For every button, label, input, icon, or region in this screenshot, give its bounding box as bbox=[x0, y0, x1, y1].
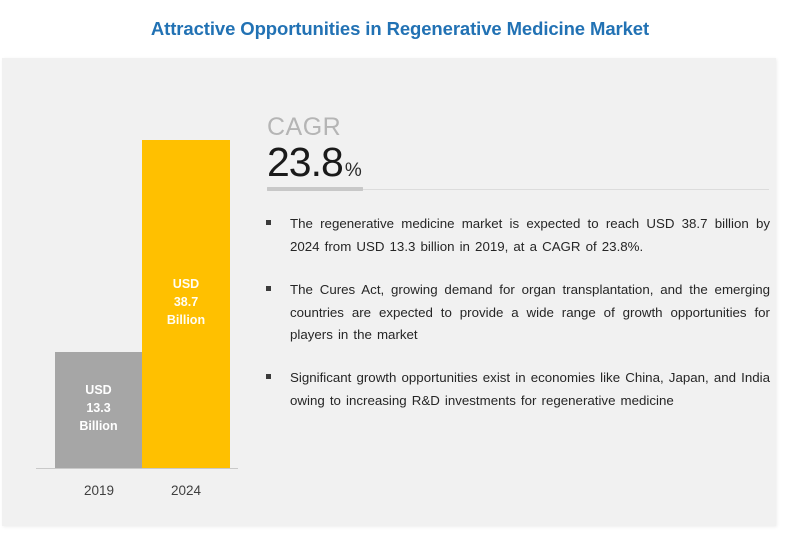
bullet-text: The regenerative medicine market is expe… bbox=[290, 213, 770, 259]
list-item: The regenerative medicine market is expe… bbox=[266, 213, 771, 259]
x-axis-line bbox=[36, 468, 238, 469]
cagr-value-row: 23.8 % bbox=[267, 142, 567, 183]
bullet-list: The regenerative medicine market is expe… bbox=[266, 213, 771, 433]
square-bullet-icon bbox=[266, 220, 271, 225]
title-bar: Attractive Opportunities in Regenerative… bbox=[0, 0, 800, 58]
infographic-panel: USD 13.3 Billion USD 38.7 Billion 2019 2… bbox=[2, 58, 776, 526]
section-divider-accent bbox=[267, 187, 363, 191]
bullet-text: The Cures Act, growing demand for organ … bbox=[290, 279, 770, 348]
bar-chart: USD 13.3 Billion USD 38.7 Billion 2019 2… bbox=[2, 58, 252, 526]
bar-2024-label-line3: Billion bbox=[167, 311, 205, 329]
bar-2019: USD 13.3 Billion bbox=[55, 352, 142, 468]
cagr-value: 23.8 bbox=[267, 142, 343, 183]
cagr-block: CAGR 23.8 % bbox=[267, 115, 567, 183]
page-title: Attractive Opportunities in Regenerative… bbox=[151, 18, 649, 40]
bar-2024-label-line2: 38.7 bbox=[174, 293, 198, 311]
bar-2024: USD 38.7 Billion bbox=[142, 140, 230, 468]
bar-2019-label-line2: 13.3 bbox=[86, 399, 110, 417]
content-column: CAGR 23.8 % The regenerative medicine ma… bbox=[266, 58, 771, 526]
bar-2024-label-line1: USD bbox=[173, 275, 199, 293]
cagr-percent-symbol: % bbox=[345, 161, 362, 180]
x-axis-tick-2019: 2019 bbox=[55, 483, 143, 498]
list-item: Significant growth opportunities exist i… bbox=[266, 367, 771, 413]
bar-2019-label-line1: USD bbox=[85, 381, 111, 399]
bar-2019-label-line3: Billion bbox=[79, 417, 117, 435]
bullet-text: Significant growth opportunities exist i… bbox=[290, 367, 770, 413]
list-item: The Cures Act, growing demand for organ … bbox=[266, 279, 771, 348]
cagr-label: CAGR bbox=[267, 115, 567, 140]
square-bullet-icon bbox=[266, 374, 271, 379]
x-axis-tick-2024: 2024 bbox=[142, 483, 230, 498]
square-bullet-icon bbox=[266, 286, 271, 291]
